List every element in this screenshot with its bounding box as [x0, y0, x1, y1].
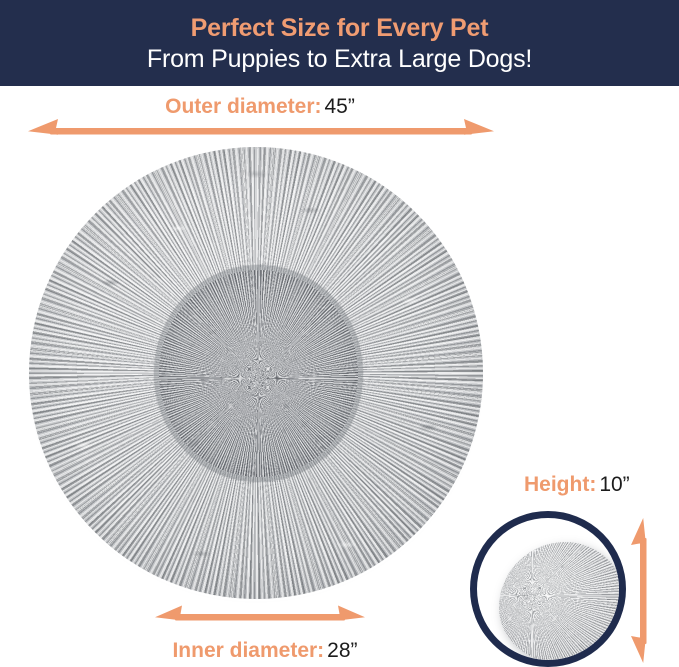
pet-bed-side-view-inset	[470, 511, 626, 667]
outer-diameter-key: Outer diameter:	[165, 95, 321, 118]
pet-bed-inner-cushion	[159, 270, 358, 477]
height-value: 10”	[599, 473, 629, 496]
inset-circle-frame	[470, 511, 626, 667]
height-label: Height:10”	[524, 474, 679, 495]
banner-subtitle: From Puppies to Extra Large Dogs!	[147, 44, 532, 74]
inner-diameter-key: Inner diameter:	[172, 639, 324, 662]
outer-diameter-value: 45”	[325, 95, 355, 118]
inner-diameter-arrow-icon	[155, 602, 365, 632]
banner-title: Perfect Size for Every Pet	[191, 14, 489, 44]
height-arrow-icon	[626, 518, 660, 663]
pet-bed-side-profile	[499, 542, 626, 664]
inner-diameter-value: 28”	[327, 639, 357, 662]
outer-diameter-arrow-icon	[28, 116, 494, 146]
pet-bed-inner-fur-texture	[159, 270, 358, 477]
outer-diameter-label: Outer diameter:45”	[0, 96, 520, 117]
pet-bed-side-fur-texture	[499, 542, 626, 664]
height-key: Height:	[524, 473, 596, 496]
pet-bed-top-view	[29, 147, 483, 599]
inner-diameter-label: Inner diameter:28”	[115, 640, 415, 661]
pet-bed-outer-ring	[29, 147, 483, 599]
header-banner: Perfect Size for Every Pet From Puppies …	[0, 0, 679, 86]
